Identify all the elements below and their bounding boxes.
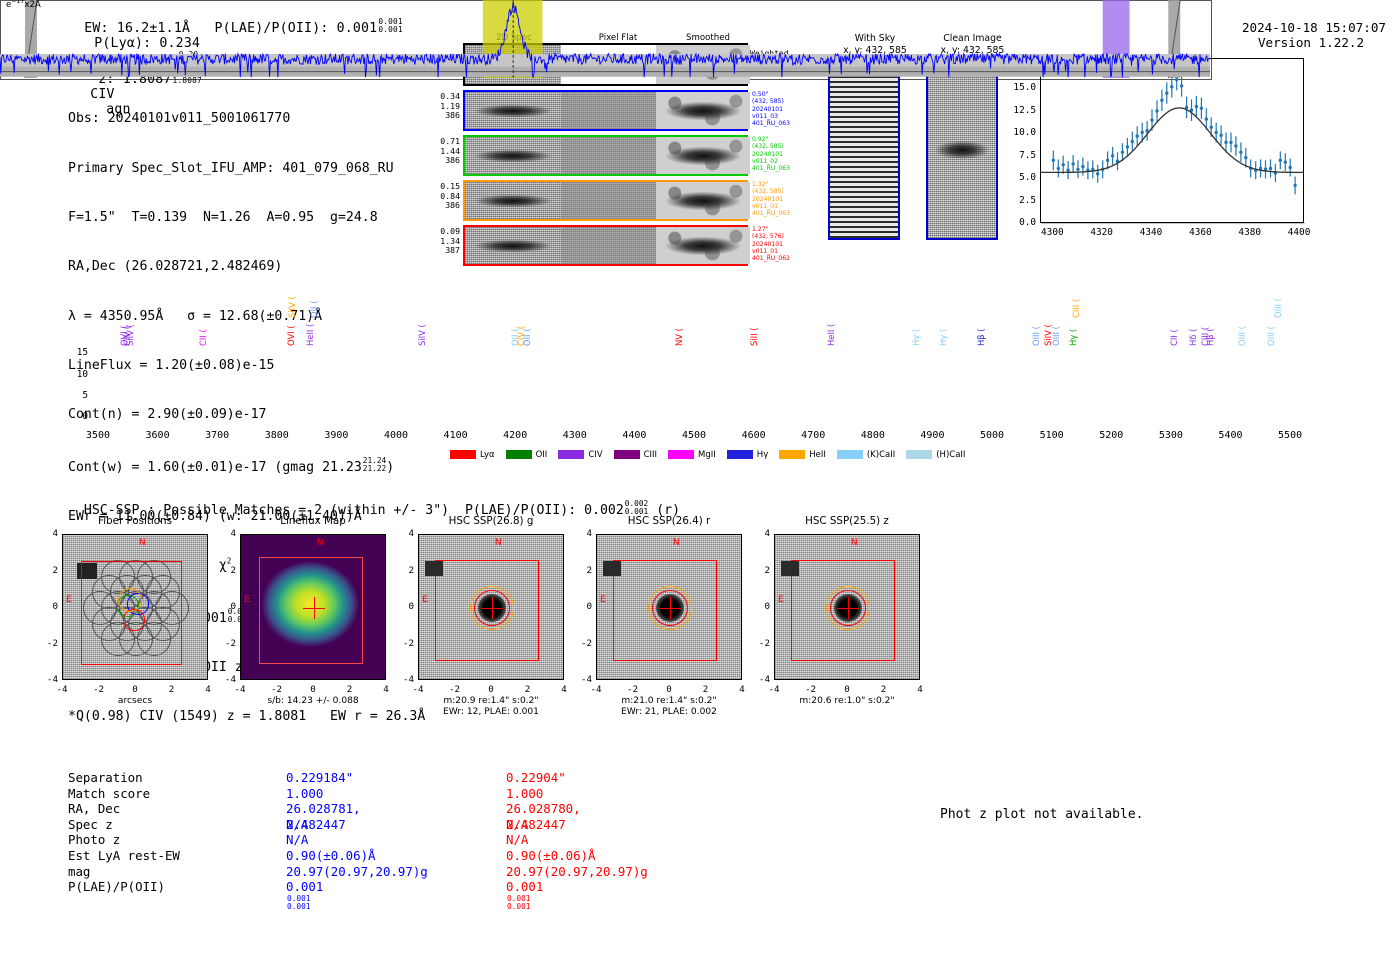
cutout-ytick: -2 [42,638,58,649]
info-cont-w: Cont(w) = 1.60(±0.01)e-17 (gmag 21.2321.… [68,457,425,476]
fiber-row-image [463,135,748,176]
table-row-value-secondary: N/A [506,817,528,833]
spectrum-xtick: 4800 [851,430,895,441]
spectrum-xtick: 5300 [1149,430,1193,441]
table-row-value-secondary: 0.22904" [506,770,566,786]
table-row-value-secondary: 20.97(20.97,20.97)g [506,864,648,880]
emission-line-label: OIII ( [1273,272,1283,318]
legend-label: (K)CaII [867,450,895,460]
info-obs: Obs: 20240101v011_5001061770 [68,111,425,127]
spectrum-ytick: 15 [66,347,88,358]
xtick: 4300 [1034,227,1070,238]
spectrum-xtick: 5100 [1030,430,1074,441]
table-row-label: Match score [68,786,278,802]
table-row-label: Spec z [68,817,278,833]
header-version: Version 1.22.2 [1258,35,1364,50]
cutout-ytick: 4 [42,528,58,539]
spectrum-xtick: 3600 [136,430,180,441]
cutout-xtick: -2 [799,684,823,695]
spectrum-xtick: 4600 [732,430,776,441]
cutout-xtick: 4 [196,684,220,695]
table-row-label: RA, Dec [68,801,278,817]
cutout-ytick: 0 [754,601,770,612]
info-lineflux: LineFlux = 1.20(±0.08)e-15 [68,358,425,374]
ytick: 0.0 [1006,217,1036,228]
table-row-value-primary: 0.0010.0010.001 [286,879,323,912]
fiber-row-image [463,225,748,266]
table-row-value-secondary: N/A [506,832,528,848]
spectrum-xtick: 3700 [195,430,239,441]
legend-swatch [837,450,863,459]
ytick: 15.0 [1006,82,1036,93]
cutout-xtick: 2 [872,684,896,695]
cutout-xtick: -2 [621,684,645,695]
cutout-ytick: 4 [754,528,770,539]
cutout-caption: m:20.6 re:1.0" s:0.2" [737,696,957,707]
emission-line-label: Hγ ( [938,300,948,346]
cutout-ytick: 4 [220,528,236,539]
emission-line-label: OIII ( [1031,300,1041,346]
cutout-ytick: 2 [576,565,592,576]
cutout-ytick: 2 [754,565,770,576]
legend-swatch [450,450,476,459]
spectrum-legend: LyαOIICIVCIIIMgIIHγHeII(K)CaII(H)CaII [450,444,976,463]
spectrum-xtick: 3900 [314,430,358,441]
photz-note: Phot z plot not available. [940,807,1144,822]
table-row-value-primary: N/A [286,832,308,848]
emission-line-label: HeII ( [826,300,836,346]
table-row-value-secondary: 1.000 [506,786,543,802]
spectrum-xtick: 4100 [434,430,478,441]
emission-line-label: OIII ( [1051,300,1061,346]
info-qciv: *Q(0.98) CIV (1549) z = 1.8081 EW r = 26… [68,709,425,725]
cutout-xtick: -2 [265,684,289,695]
spectrum-xtick: 4700 [791,430,835,441]
cutout-image: NE [240,534,386,680]
ytick: 5.0 [1006,172,1036,183]
table-row-value-secondary: 0.90(±0.06)Å [506,848,596,864]
table-row-value-primary: 0.90(±0.06)Å [286,848,376,864]
with-sky-image [828,60,900,240]
cutout-ytick: 4 [398,528,414,539]
cutout-ytick: 0 [220,601,236,612]
legend-label: HeII [809,450,826,460]
table-row-label: mag [68,864,278,880]
legend-label: OII [536,450,548,460]
legend-swatch [506,450,532,459]
cutout-xtick: -4 [50,684,74,695]
xtick: 4380 [1232,227,1268,238]
cutout-xtick: -4 [584,684,608,695]
cutout-ytick: 0 [42,601,58,612]
spectrum-xtick: 4300 [553,430,597,441]
cutout-xtick: -2 [443,684,467,695]
table-row-label: Separation [68,770,278,786]
line-fit-canvas [1041,59,1305,224]
legend-label: (H)CaII [936,450,965,460]
clean-image [926,60,998,240]
emission-line-label: SiII ( [749,300,759,346]
cutout-title: Fiber Positions [42,515,228,527]
cutout-xtick: 0 [123,684,147,695]
cutout-xtick: 2 [338,684,362,695]
cutout-xtick: 0 [301,684,325,695]
cutout-image: NE [774,534,920,680]
cutout-ytick: -2 [220,638,236,649]
cutout-xtick: 4 [374,684,398,695]
info-cont-n: Cont(n) = 2.90(±0.09)e-17 [68,407,425,423]
cutout-xtick: -4 [228,684,252,695]
emission-line-label: SiIV ( [287,272,297,318]
line-fit-plot: e−17x2Å [1040,58,1304,223]
spectrum-ytick: 10 [66,369,88,380]
cutout-caption-line2: EWr: 21, PLAE: 0.002 [559,707,779,718]
emission-line-label: Hβ ( [976,300,986,346]
fiber-row-meta: 1.32"(432, 585)20240101v011_01401_RU_063 [752,181,790,217]
xtick: 4400 [1281,227,1317,238]
spectrum-xtick: 3800 [255,430,299,441]
emission-line-label: CIII ( [1071,272,1081,318]
legend-label: CIV [588,450,602,460]
spectrum-xtick: 5500 [1268,430,1312,441]
emission-line-label: Hβ ( [1205,300,1215,346]
spectrum-canvas [0,0,1210,78]
spectrum-units: e−17x2Å [6,0,41,10]
legend-label: MgII [698,450,716,460]
cutout-title: Lineflux Map [220,515,406,527]
emission-line-label: Hδ ( [1188,300,1198,346]
table-row-label: Est LyA rest-EW [68,848,278,864]
xtick: 4360 [1182,227,1218,238]
cutout-ytick: -2 [398,638,414,649]
cutout-ytick: -2 [576,638,592,649]
cutout-ytick: 0 [398,601,414,612]
cutout-xtick: 0 [479,684,503,695]
ytick: 7.5 [1006,150,1036,161]
cutout-ytick: 4 [576,528,592,539]
cutout-title: HSC SSP(26.8) g [398,515,584,527]
spectrum-xtick: 5200 [1089,430,1133,441]
info-params: F=1.5" T=0.139 N=1.26 A=0.95 g=24.8 [68,210,425,226]
cutout-ytick: -2 [754,638,770,649]
fiber-row-values: 0.711.44386 [432,137,460,166]
cutout-xtick: 2 [694,684,718,695]
spectrum-xtick: 5000 [970,430,1014,441]
fiber-row-values: 0.341.19386 [432,92,460,121]
header-timestamp-version: 2024-10-18 15:07:07 Version 1.22.2 [1227,5,1386,50]
emission-line-label: Hγ ( [911,300,921,346]
header-datetime: 2024-10-18 15:07:07 [1242,20,1386,35]
ytick: 12.5 [1006,105,1036,116]
cutout-image: NE [596,534,742,680]
cutout-image: NE [418,534,564,680]
cutout-ytick: 2 [42,565,58,576]
emission-line-label: OII ( [522,300,532,346]
spectrum-ytick: 5 [66,390,88,401]
cutout-xtick: -4 [406,684,430,695]
emission-line-label: OII ( [309,272,319,318]
cutout-caption-line1: m:20.6 re:1.0" s:0.2" [737,696,957,707]
cutout-xtick: -4 [762,684,786,695]
cutout-xtick: 2 [516,684,540,695]
legend-label: Hγ [757,450,768,460]
spectrum-xtick: 4000 [374,430,418,441]
emission-line-label: CII ( [1169,300,1179,346]
spectrum-xtick: 4200 [493,430,537,441]
legend-swatch [668,450,694,459]
xtick: 4340 [1133,227,1169,238]
fiber-row-meta: 0.92"(432, 585)20240101v011_02401_RU_063 [752,136,790,172]
hsc-headline: HSC-SSP : Possible Matches = 2 (within +… [68,485,680,518]
emission-line-label: CII ( [198,300,208,346]
fiber-row-meta: 0.50"(432, 585)20240101v011_03401_RU_063 [752,91,790,127]
fiber-row-values: 0.150.84386 [432,182,460,211]
spectrum-xtick: 4900 [910,430,954,441]
fiber-row-meta: 1.27"(432, 576)20240101v011_01401_RU_062 [752,226,790,262]
legend-swatch [727,450,753,459]
cutout-ytick: 2 [220,565,236,576]
fiber-row-values: 0.091.34387 [432,227,460,256]
emission-line-label: NV ( [674,300,684,346]
table-row-value-primary: N/A [286,817,308,833]
spectrum-xtick: 5400 [1208,430,1252,441]
cutout-ytick: 0 [576,601,592,612]
table-row-label: P(LAE)/P(OII) [68,879,278,895]
emission-line-label: SiIV ( [125,300,135,346]
legend-swatch [906,450,932,459]
legend-label: Lyα [480,450,495,460]
cutout-ytick: 2 [398,565,414,576]
legend-swatch [779,450,805,459]
spectrum-xtick: 3500 [76,430,120,441]
cutout-image: NE [62,534,208,680]
cutout-xtick: 2 [160,684,184,695]
spectrum-xtick: 4500 [672,430,716,441]
full-spectrum-plot: e−17x2Å [0,0,1212,80]
cutout-xtick: 4 [908,684,932,695]
cutout-title: HSC SSP(26.4) r [576,515,762,527]
table-row-value-primary: 20.97(20.97,20.97)g [286,864,428,880]
fiber-row-image [463,90,748,131]
table-row-value-secondary: 0.0010.0010.001 [506,879,543,912]
emission-line-label: OIII ( [1237,300,1247,346]
cutout-xtick: 0 [657,684,681,695]
table-row-value-primary: 0.229184" [286,770,353,786]
xtick: 4320 [1084,227,1120,238]
emission-line-label: SiIV ( [417,300,427,346]
legend-swatch [558,450,584,459]
cutout-title: HSC SSP(25.5) z [754,515,940,527]
cutout-xtick: 4 [552,684,576,695]
info-radec: RA,Dec (26.028721,2.482469) [68,259,425,275]
legend-label: CIII [644,450,657,460]
info-primary-spec: Primary Spec_Slot_IFU_AMP: 401_079_068_R… [68,161,425,177]
cutout-xtick: -2 [87,684,111,695]
ytick: 2.5 [1006,195,1036,206]
fiber-row-image [463,180,748,221]
spectrum-ytick: 0 [66,411,88,422]
legend-swatch [614,450,640,459]
spectrum-xtick: 4400 [612,430,656,441]
ytick: 10.0 [1006,127,1036,138]
table-row-value-primary: 1.000 [286,786,323,802]
cutout-xtick: 4 [730,684,754,695]
table-row-label: Photo z [68,832,278,848]
cutout-xtick: 0 [835,684,859,695]
